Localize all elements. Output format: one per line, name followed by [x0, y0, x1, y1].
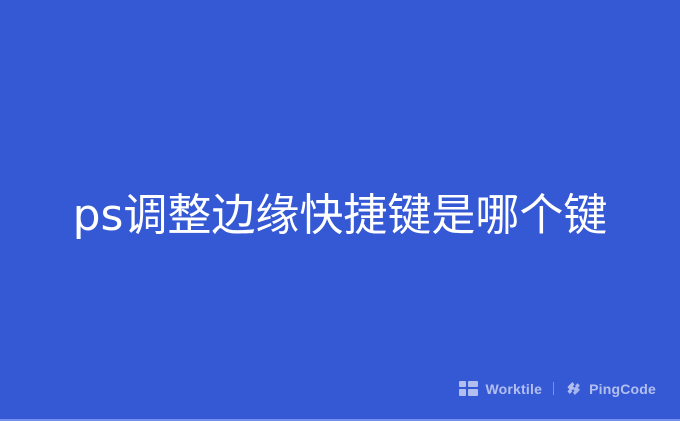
- pingcode-brand-label: PingCode: [589, 382, 656, 396]
- pingcode-chevron-icon: [565, 380, 582, 397]
- worktile-brand: Worktile: [459, 381, 542, 396]
- page-title: ps调整边缘快捷键是哪个键: [73, 191, 608, 242]
- brand-separator: [553, 382, 554, 395]
- pingcode-brand: PingCode: [565, 380, 656, 397]
- worktile-tiles-icon: [459, 381, 478, 396]
- headline-container: ps调整边缘快捷键是哪个键: [0, 176, 680, 256]
- cover-banner: ps调整边缘快捷键是哪个键 Worktile PingCode: [0, 0, 680, 421]
- brand-watermark: Worktile PingCode: [459, 380, 656, 397]
- worktile-brand-label: Worktile: [485, 382, 542, 396]
